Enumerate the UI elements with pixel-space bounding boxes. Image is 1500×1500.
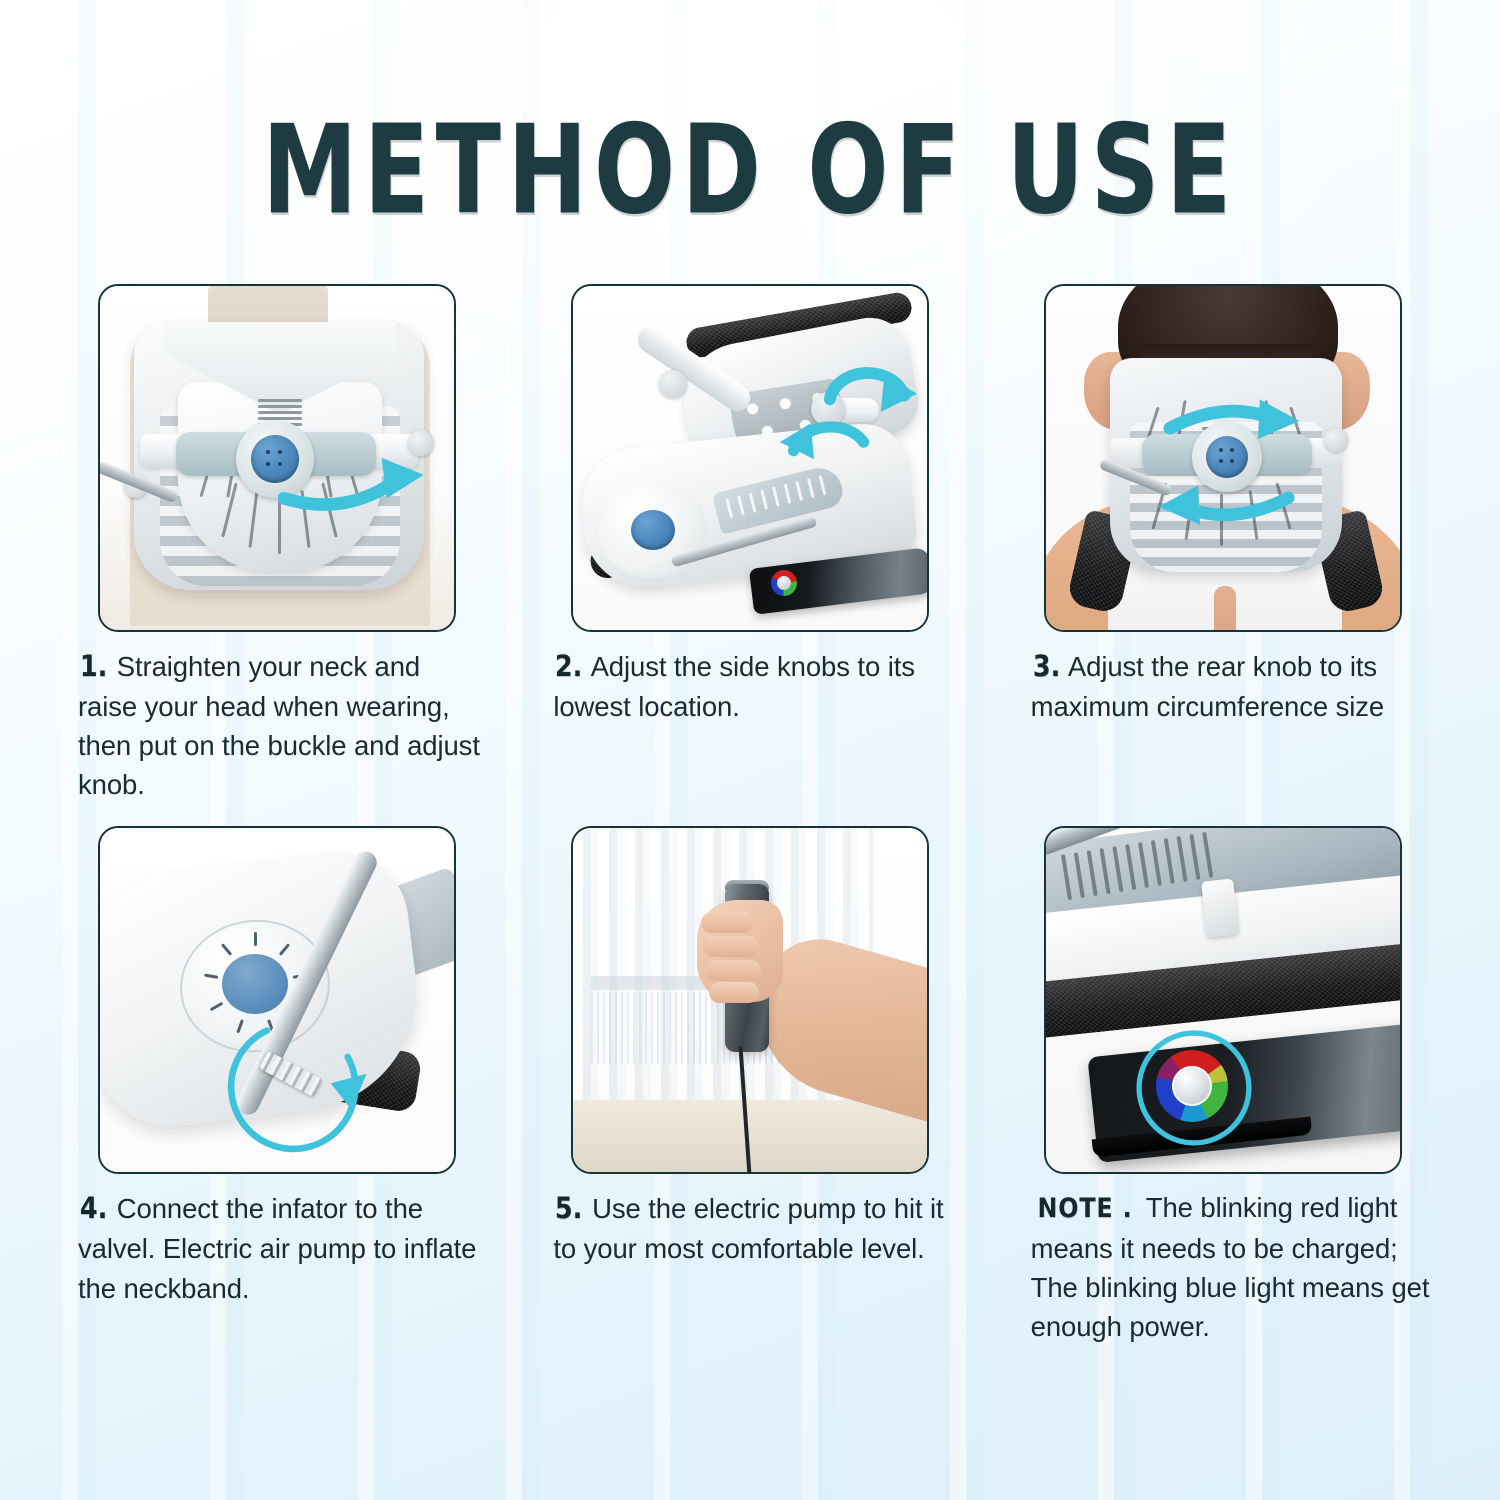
step-caption-1: 1. Straighten your neck and raise your h…	[70, 646, 483, 804]
step-image-2	[571, 284, 929, 632]
step-caption-3: 3. Adjust the rear knob to its maximum c…	[1017, 646, 1430, 726]
step-caption-2: 2. Adjust the side knobs to its lowest l…	[543, 646, 956, 726]
side-knob-left	[659, 370, 687, 398]
step-text-5: Use the electric pump to hit it to your …	[553, 1193, 943, 1264]
circular-arrow-clockwise-icon	[210, 1008, 380, 1168]
step-number-4: 4.	[80, 1188, 107, 1229]
circular-arrow-counterclockwise-icon	[769, 408, 883, 502]
step-card-5: 5. Use the electric pump to hit it to yo…	[543, 826, 956, 1345]
steps-grid: 1. Straighten your neck and raise your h…	[70, 284, 1430, 1346]
step-card-3: 3. Adjust the rear knob to its maximum c…	[1017, 284, 1430, 804]
step-text-2: Adjust the side knobs to its lowest loca…	[553, 651, 915, 722]
step-number-3: 3.	[1033, 646, 1060, 687]
step-caption-6: NOTE . The blinking red light means it n…	[1017, 1188, 1430, 1345]
step-text-1: Straighten your neck and raise your head…	[78, 651, 480, 800]
page-title: METHOD OF USE	[60, 109, 1440, 232]
valve-sunburst-icon	[222, 954, 288, 1014]
pump-led-center	[777, 576, 791, 590]
step-card-1: 1. Straighten your neck and raise your h…	[70, 284, 483, 804]
step-image-4	[98, 826, 456, 1174]
step-number-1: 1.	[80, 646, 107, 687]
step-card-6: NOTE . The blinking red light means it n…	[1017, 826, 1430, 1345]
note-label: NOTE .	[1037, 1190, 1132, 1228]
step-card-2: 2. Adjust the side knobs to its lowest l…	[543, 284, 956, 804]
step-caption-5: 5. Use the electric pump to hit it to yo…	[543, 1188, 956, 1268]
step-image-1	[98, 284, 456, 632]
step-text-3: Adjust the rear knob to its maximum circ…	[1031, 651, 1384, 722]
arrow-right-top-icon	[1156, 394, 1306, 448]
infographic-background: METHOD OF USE	[0, 0, 1500, 1500]
hose-clip	[1201, 879, 1239, 938]
step-image-5	[571, 826, 929, 1174]
step-image-6	[1044, 826, 1402, 1174]
arrow-left-bottom-icon	[1152, 478, 1302, 532]
valve-knob	[631, 510, 675, 550]
curved-arrow-right-icon	[278, 446, 448, 522]
step-number-5: 5.	[555, 1188, 582, 1229]
step-number-2: 2.	[555, 646, 582, 687]
step-image-3	[1044, 284, 1402, 632]
table-surface	[573, 1100, 929, 1174]
step-card-4: 4. Connect the infator to the valvel. El…	[70, 826, 483, 1345]
tank-top-notch	[1214, 586, 1236, 632]
step-text-4: Connect the infator to the valvel. Elect…	[78, 1193, 476, 1303]
highlight-circle-icon	[1132, 1026, 1256, 1150]
step-caption-4: 4. Connect the infator to the valvel. El…	[70, 1188, 483, 1307]
